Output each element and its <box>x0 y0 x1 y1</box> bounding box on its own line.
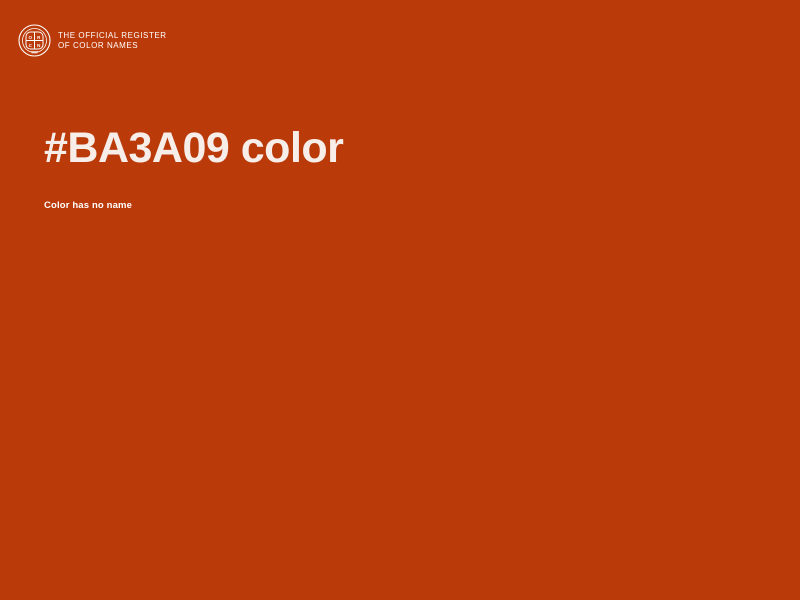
brand-line-2: OF COLOR NAMES <box>58 41 167 52</box>
svg-text:C: C <box>29 43 33 48</box>
brand-wordmark: THE OFFICIAL REGISTER OF COLOR NAMES <box>58 30 167 52</box>
official-register-seal-icon: O R C N <box>18 24 51 57</box>
svg-text:O: O <box>28 35 32 40</box>
color-info-panel: #BA3A09 color Color has no name <box>44 122 744 212</box>
svg-text:R: R <box>37 35 41 40</box>
page-title: #BA3A09 color <box>44 122 744 174</box>
svg-text:N: N <box>37 43 40 48</box>
brand-line-1: THE OFFICIAL REGISTER <box>58 31 167 42</box>
color-name-status: Color has no name <box>44 199 744 212</box>
brand-header[interactable]: O R C N THE OFFICIAL REGISTER OF COLOR N… <box>18 24 167 57</box>
